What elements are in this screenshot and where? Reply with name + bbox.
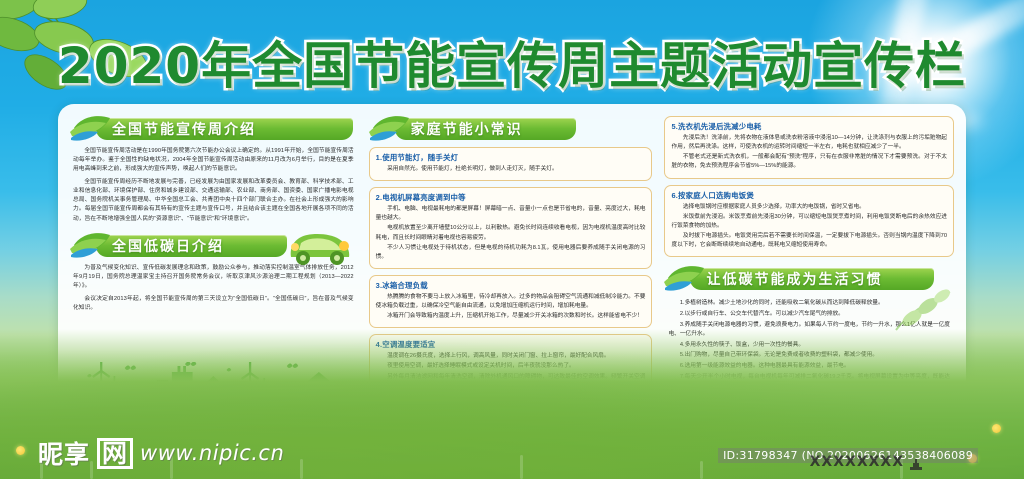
tip-paragraph: 不少人习惯让电视处于待机状态，但是电视的待机功耗为8.1瓦，使用电器后要养成随手…: [376, 244, 646, 262]
watermark-x-mark: XXXXXXXX: [810, 454, 904, 470]
tip-card: 6.按家庭人口选购电饭煲 选择电饭锅时应根据家庭人员多少选择，功率大的电饭锅，省…: [664, 185, 954, 258]
section-header-intro-label: 全国节能宣传周介绍: [106, 119, 256, 139]
section-header-intro: 全国节能宣传周介绍: [68, 116, 359, 142]
tip-card-body: 温度调在26摄氏度，选择上行风，调高风量，同时关闭门窗、拉上窗帘，最好配合风扇。…: [376, 352, 646, 400]
section-header-lowcarbon: 全国低碳日介绍: [68, 233, 359, 259]
tip-paragraph: 及时拔下电源插头。电饭煲用完后若不需要长时间保温，一定要拔下电源插头。否则当锅内…: [671, 232, 947, 250]
intro-paragraph: 全国节能宣传周经历不断地发展与完善，已经发展为由国家发展和改革委员会、教育部、科…: [68, 178, 359, 224]
habit-item: 5.出门购物，尽量自己带环保袋。无论是免费或者收费的塑料袋，都减少使用。: [668, 351, 950, 360]
tip-card-title: 2.电视机屏幕亮度调到中等: [376, 192, 646, 203]
column-middle: 家庭节能小常识 1.使用节能灯，随手关灯 采用自然光。使用节能灯，杜绝长明灯，做…: [367, 112, 655, 442]
skyline-illustration-wrap: 2020年全国节能宣传周主题：绿水青山 节能增效”: [68, 362, 359, 442]
leaf-icon: [68, 229, 116, 263]
tip-card-title: 1.使用节能灯，随手关灯: [376, 152, 646, 163]
tip-paragraph: 选择电饭锅时应根据家庭人员多少选择，功率大的电饭锅，省时又省电。: [671, 203, 947, 212]
section-header-habits: 让低碳节能成为生活习惯: [662, 266, 956, 292]
watermark-image-id: ID:31798347 (NO.20200626143538406089: [718, 448, 978, 463]
habit-item: 6.选用第一级能源效益的电器。这种电器最具有能源效益，最节电。: [668, 362, 950, 371]
tip-card-title: 4.空调温度要适宜: [376, 339, 646, 350]
tip-paragraph: 采用自然光。使用节能灯，杜绝长明灯，做到人走灯灭，随手关灯。: [376, 165, 646, 174]
tip-card-body: 热腾腾的食物不要马上放入冰箱里，待冷却再放入。过多的物品会阻碍空气流通和减低制冷…: [376, 293, 646, 321]
tip-card-title: 6.按家庭人口选购电饭煲: [671, 190, 947, 201]
section-header-family-tips-label: 家庭节能小常识: [405, 119, 523, 139]
poster-canvas: 2020年全国节能宣传周主题活动宣传栏 全国节能宣传周介绍 全国节能宣传周活动是…: [0, 0, 1024, 479]
column-left: 全国节能宣传周介绍 全国节能宣传周活动是在1990年国务院第六次节能办公会议上确…: [68, 112, 359, 442]
section-header-family-tips: 家庭节能小常识: [367, 116, 655, 142]
tip-paragraph: 温度调在26摄氏度，选择上行风，调高风量，同时关闭门窗、拉上窗帘，最好配合风扇。: [376, 352, 646, 361]
tip-card-body: 手机、电脑、电视最耗电的都是屏幕！屏幕暗一点、音量小一点也是节省电的，音量、亮度…: [376, 205, 646, 262]
tip-paragraph: 电视机放置至少离开墙壁10公分以上，以利散热。避免长时间连续收看电视，因为电视机…: [376, 224, 646, 242]
tip-card-body: 先浸后洗！洗涤前，先将衣物在液体皂或洗衣粉溶液中浸泡10—14分钟，让洗涤剂与衣…: [671, 134, 947, 172]
intro-paragraph: 全国节能宣传周活动是在1990年国务院第六次节能办公会议上确定的。从1991年开…: [68, 147, 359, 175]
campaign-slogan: 2020年全国节能宣传周主题：绿水青山 节能增效”: [72, 426, 355, 440]
lowcarbon-paragraph: 会议决定自2013年起，将全国节能宣传周的第三天设立为“全国低碳日”。“全国低碳…: [68, 295, 359, 313]
tip-paragraph: 不管老式还是新式洗衣机，一般都会配有“预洗”程序，只有在衣服非常脏的情况下才需要…: [671, 153, 947, 171]
tip-paragraph: 先浸后洗！洗涤前，先将衣物在液体皂或洗衣粉溶液中浸泡10—14分钟，让洗涤剂与衣…: [671, 134, 947, 152]
green-city-skyline-icon: [72, 362, 355, 428]
tip-card-body: 采用自然光。使用节能灯，杜绝长明灯，做到人走灯灭，随手关灯。: [376, 165, 646, 174]
tip-card: 5.洗衣机先浸后洗减少电耗 先浸后洗！洗涤前，先将衣物在液体皂或洗衣粉溶液中浸泡…: [664, 116, 954, 179]
habit-item: 1.多植树造林。减少土地沙化的同时，还能吸收二氧化碳从而达到降低碳释放量。: [668, 299, 950, 308]
page-title: 2020年全国节能宣传周主题活动宣传栏: [0, 26, 1024, 98]
content-panel: 全国节能宣传周介绍 全国节能宣传周活动是在1990年国务院第六次节能办公会议上确…: [58, 104, 966, 448]
habit-item: 4.多用永久性的筷子、饭盒，少用一次性的餐具。: [668, 341, 950, 350]
tip-paragraph: 另外每月清洁滤网和每年清洗空调，清除外机通风口的障碍物，可达致最佳的空调效果。频…: [376, 373, 646, 400]
leaf-icon: [367, 112, 415, 146]
tip-paragraph: 米饭煮前先浸泡。米饭烹煮前先浸泡30分钟，可以缩短电饭煲烹煮时间，利用电饭煲断电…: [671, 213, 947, 231]
tip-paragraph: 手机、电脑、电视最耗电的都是屏幕！屏幕暗一点、音量小一点也是节省电的，音量、亮度…: [376, 205, 646, 223]
leaf-icon: [662, 262, 710, 296]
tip-paragraph: 夜里使用空调，最好选择睡眠模式或设定关机时间，后半夜就没那么热了。: [376, 362, 646, 371]
leaf-icon: [68, 112, 116, 146]
column-right: 5.洗衣机先浸后洗减少电耗 先浸后洗！洗涤前，先将衣物在液体皂或洗衣粉溶液中浸泡…: [662, 112, 956, 442]
habit-item: 7.每天少开半个小时电视，每台电视机每年可减排二氧化碳19.2千克。将电视屏幕设…: [668, 373, 950, 391]
tip-card-body: 选择电饭锅时应根据家庭人员多少选择，功率大的电饭锅，省时又省电。 米饭煮前先浸泡…: [671, 203, 947, 251]
tip-card-title: 3.冰箱合理负载: [376, 280, 646, 291]
tip-paragraph: 热腾腾的食物不要马上放入冰箱里，待冷却再放入。过多的物品会阻碍空气流通和减低制冷…: [376, 293, 646, 311]
eco-car-icon: [283, 227, 355, 269]
section-header-habits-label: 让低碳节能成为生活习惯: [700, 269, 882, 289]
habit-item: 2.以步行或自行车、公交车代替汽车。可以减少汽车尾气的排放。: [668, 310, 950, 319]
tip-card: 3.冰箱合理负载 热腾腾的食物不要马上放入冰箱里，待冷却再放入。过多的物品会阻碍…: [369, 275, 653, 328]
tip-card: 4.空调温度要适宜 温度调在26摄氏度，选择上行风，调高风量，同时关闭门窗、拉上…: [369, 334, 653, 407]
habit-item: 3.养成随手关闭电源电器的习惯，避免浪费电力。如果每人节约一度电，节约一升水，那…: [668, 321, 950, 339]
tip-card: 2.电视机屏幕亮度调到中等 手机、电脑、电视最耗电的都是屏幕！屏幕暗一点、音量小…: [369, 187, 653, 269]
tip-card-title: 5.洗衣机先浸后洗减少电耗: [671, 121, 947, 132]
stamp-icon: [908, 456, 924, 472]
tip-paragraph: 冰箱开门会导致箱内温度上升，压缩机开始工作，尽量减少开关冰箱的次数和时长。这样能…: [376, 312, 646, 321]
tip-card: 1.使用节能灯，随手关灯 采用自然光。使用节能灯，杜绝长明灯，做到人走灯灭，随手…: [369, 147, 653, 181]
section-header-lowcarbon-label: 全国低碳日介绍: [106, 236, 224, 256]
habit-list: 1.多植树造林。减少土地沙化的同时，还能吸收二氧化碳从而达到降低碳释放量。 2.…: [662, 297, 956, 393]
